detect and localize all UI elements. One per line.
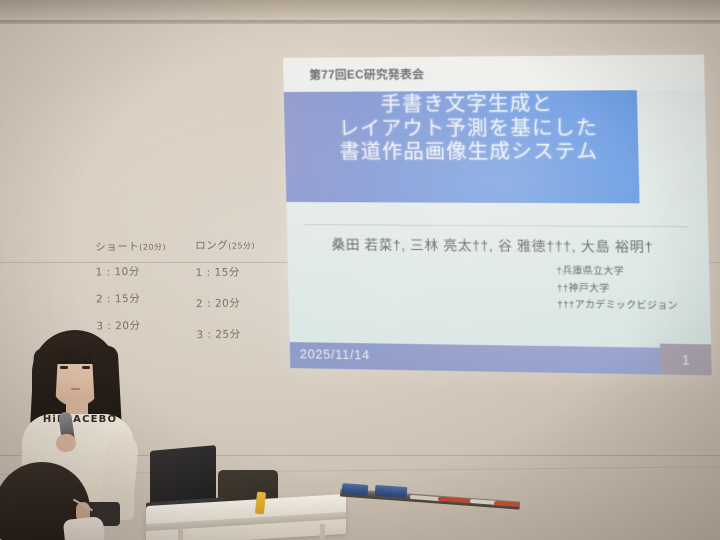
presenter-eye-right <box>82 366 90 369</box>
affiliation-list: †兵庫県立大学 ††神戸大学 †††アカデミックビジョン <box>556 263 678 316</box>
lecture-room-scene: ショート(20分) 1 : 10分 2 : 15分 3 : 20分 ロング(25… <box>0 0 720 540</box>
title-separator <box>305 224 689 227</box>
conference-name: 第77回EC研究発表会 <box>309 66 424 83</box>
long-session-item: 1 : 15分 <box>195 264 255 280</box>
slide-canvas: 第77回EC研究発表会 手書き文字生成と レイアウト予測を基にした 書道作品画像… <box>283 55 712 376</box>
author-list: 桑田 若菜†, 三林 亮太††, 谷 雅徳†††, 大島 裕明† <box>287 233 700 256</box>
long-session-item: 3 : 25分 <box>196 326 256 342</box>
desk-leg <box>178 524 183 540</box>
page-number: 1 <box>682 352 690 368</box>
title-line-1: 手書き文字生成と <box>284 92 655 117</box>
page-number-badge: 1 <box>660 344 712 376</box>
title-line-2: レイアウト予測を基にした <box>284 116 655 141</box>
slide-header-band: 第77回EC研究発表会 <box>283 55 705 92</box>
slide-title: 手書き文字生成と レイアウト予測を基にした 書道作品画像生成システム <box>284 92 656 165</box>
long-session-heading: ロング(25分) <box>195 237 255 253</box>
ceiling <box>0 0 720 22</box>
face-mask <box>63 516 105 540</box>
presentation-date: 2025/11/14 <box>300 347 370 362</box>
short-session-item: 1 : 10分 <box>95 263 166 279</box>
affiliation-item: ††神戸大学 <box>557 280 678 298</box>
whiteboard-eraser <box>342 483 369 496</box>
whiteboard-eraser <box>375 485 408 498</box>
affiliation-item: †††アカデミックビジョン <box>557 297 678 316</box>
short-session-heading: ショート(20分) <box>95 238 166 254</box>
long-session-item: 2 : 20分 <box>196 295 256 311</box>
long-session-column: ロング(25分) 1 : 15分 2 : 20分 3 : 25分 <box>195 237 257 358</box>
presenter-mouth <box>71 388 80 390</box>
short-session-item: 2 : 15分 <box>96 290 167 306</box>
desk-leg <box>320 524 325 540</box>
projected-slide: 第77回EC研究発表会 手書き文字生成と レイアウト予測を基にした 書道作品画像… <box>283 55 712 376</box>
presenter-eye-left <box>60 366 68 369</box>
title-line-3: 書道作品画像生成システム <box>285 141 656 165</box>
sweatshirt-text: HiPLACEBO <box>34 414 126 425</box>
seated-audience-member <box>0 462 124 540</box>
affiliation-item: †兵庫県立大学 <box>556 263 677 281</box>
